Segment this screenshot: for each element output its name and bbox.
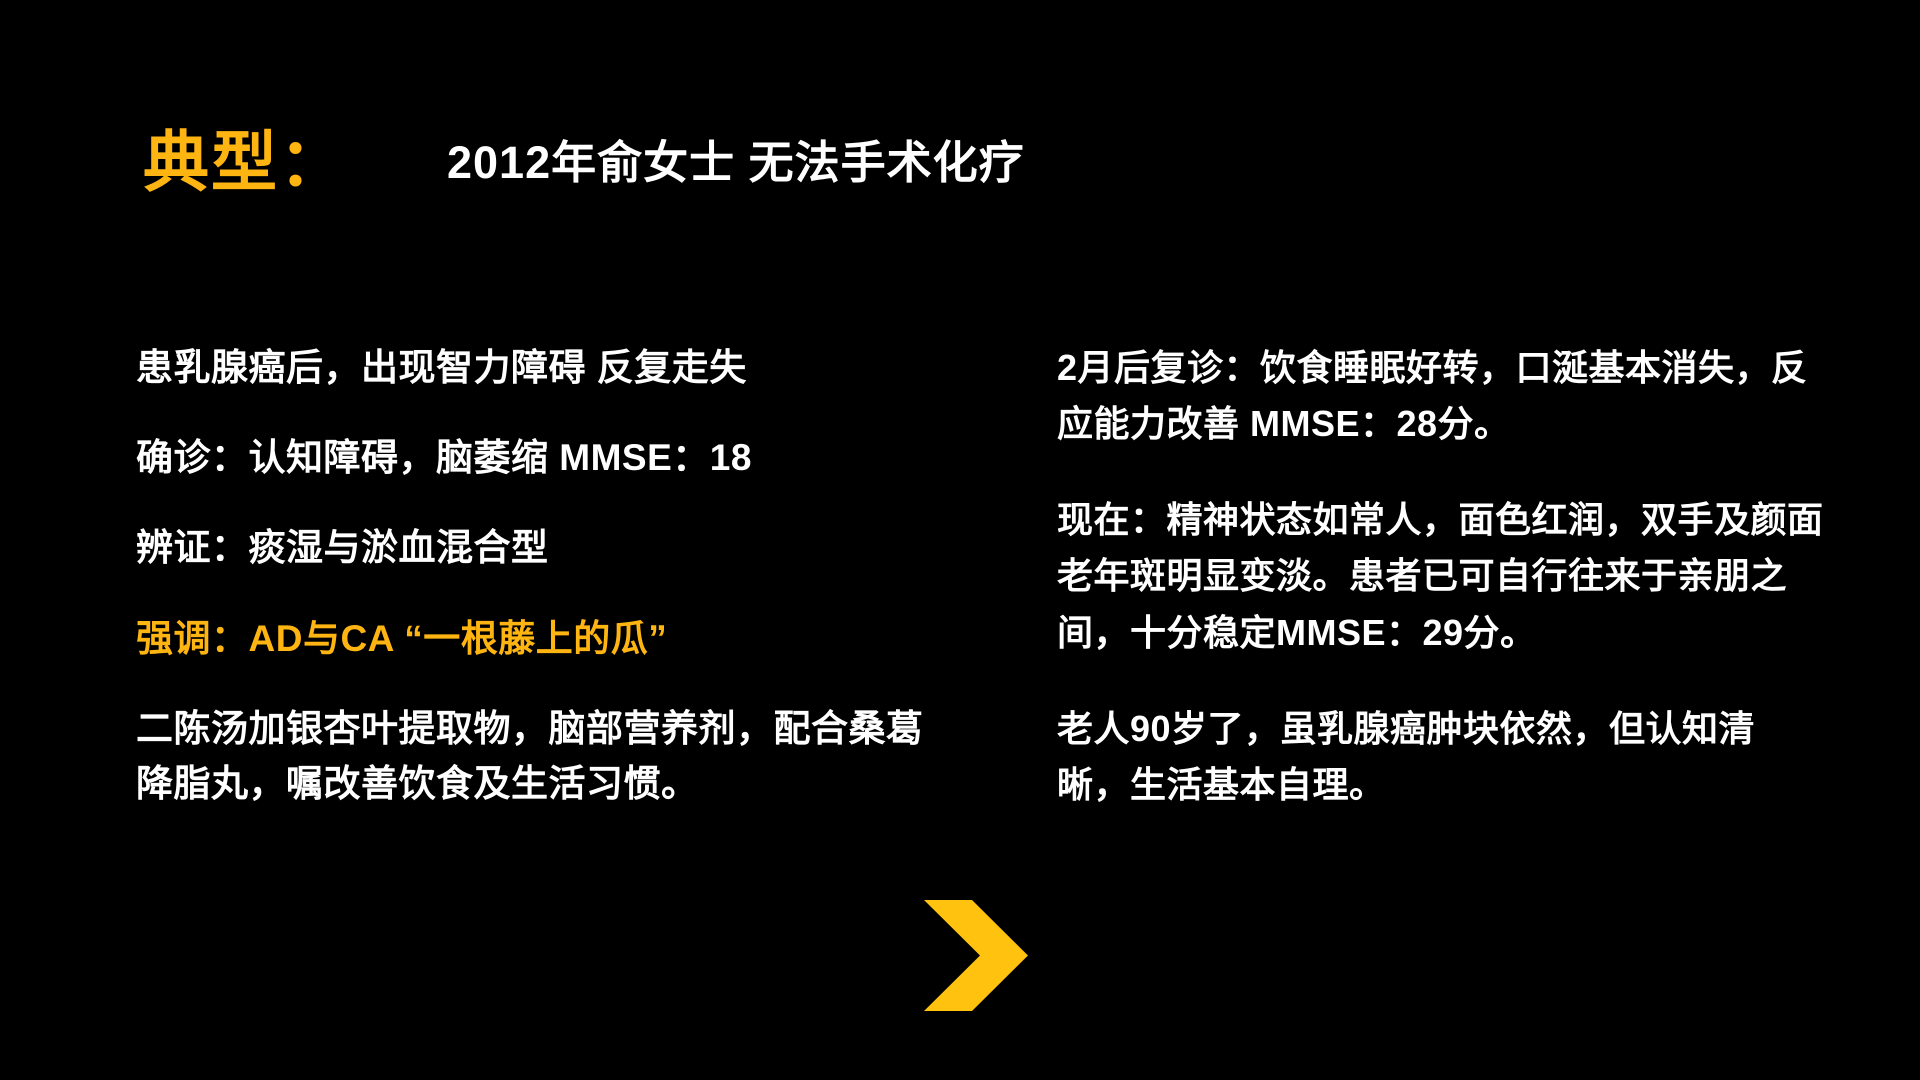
right-line-outcome: 老人90岁了，虽乳腺癌肿块依然，但认知清晰，生活基本自理。	[1057, 701, 1827, 813]
chevron-right-arrow-icon	[922, 898, 1032, 1013]
left-column: 患乳腺癌后，出现智力障碍 反复走失 确诊：认知障碍，脑萎缩 MMSE：18 辨证…	[136, 340, 926, 859]
slide-body: 患乳腺癌后，出现智力障碍 反复走失 确诊：认知障碍，脑萎缩 MMSE：18 辨证…	[0, 340, 1920, 1000]
left-line-symptoms: 患乳腺癌后，出现智力障碍 反复走失	[136, 340, 926, 396]
right-line-current-status: 现在：精神状态如常人，面色红润，双手及颜面老年斑明显变淡。患者已可自行往来于亲朋…	[1057, 492, 1827, 660]
left-line-emphasis: 强调：AD与CA “一根藤上的瓜”	[136, 611, 926, 667]
right-column: 2月后复诊：饮食睡眠好转，口涎基本消失，反应能力改善 MMSE：28分。 现在：…	[1057, 340, 1827, 853]
left-line-prescription: 二陈汤加银杏叶提取物，脑部营养剂，配合桑葛降脂丸，嘱改善饮食及生活习惯。	[136, 701, 926, 812]
left-line-syndrome: 辨证：痰湿与淤血混合型	[136, 520, 926, 576]
slide-header: 典型： 2012年俞女士 无法手术化疗	[0, 112, 1920, 212]
left-line-diagnosis: 确诊：认知障碍，脑萎缩 MMSE：18	[136, 430, 926, 486]
right-line-followup-2month: 2月后复诊：饮食睡眠好转，口涎基本消失，反应能力改善 MMSE：28分。	[1057, 340, 1827, 452]
page-title-label: 典型：	[143, 129, 347, 195]
page-subtitle: 2012年俞女士 无法手术化疗	[447, 140, 1025, 185]
slide-root: 典型： 2012年俞女士 无法手术化疗 患乳腺癌后，出现智力障碍 反复走失 确诊…	[0, 0, 1920, 1080]
